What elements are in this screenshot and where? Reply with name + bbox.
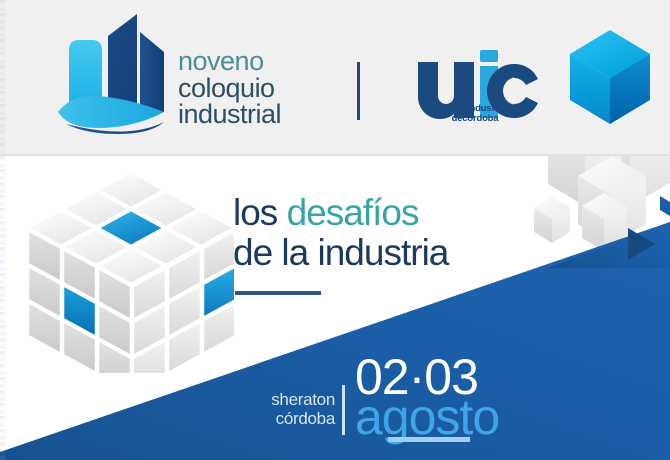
uic-subtitle: uniónindustrial decórdoba: [410, 104, 540, 124]
coloquio-wordmark: noveno coloquio industrial: [178, 48, 281, 128]
date-underline-rule: [388, 437, 470, 442]
title-underline-rule: [235, 291, 321, 295]
title-word-los: los: [233, 192, 287, 233]
poster-canvas: noveno coloquio industrial uniónindustri…: [0, 0, 670, 460]
rubik-cube-graphic: [28, 168, 234, 373]
coloquio-line-3: industrial: [178, 101, 281, 128]
venue-line-2: córdoba: [215, 409, 335, 428]
left-edge-artifact-strip: [0, 0, 5, 460]
coloquio-line-1: noveno: [178, 48, 281, 75]
coloquio-line-2: coloquio: [178, 75, 281, 102]
blue-cube-top-right: [560, 22, 670, 134]
page-title: los desafíos de la industria: [233, 193, 448, 273]
header-vertical-divider: [357, 62, 360, 120]
gray-cube-small-right: [534, 197, 570, 243]
title-line-2: de la industria: [233, 233, 448, 273]
title-line-1: los desafíos: [233, 193, 448, 233]
venue-line-1: sheraton: [215, 390, 335, 409]
header-divider-line: [0, 154, 670, 156]
title-word-desafios: desafíos: [287, 192, 419, 233]
venue-date-divider: [342, 385, 345, 435]
venue-block: sheraton córdoba: [215, 390, 335, 428]
uic-subtitle-line-2: decórdoba: [410, 114, 540, 124]
buildings-swoosh-logo-icon: [52, 14, 174, 140]
